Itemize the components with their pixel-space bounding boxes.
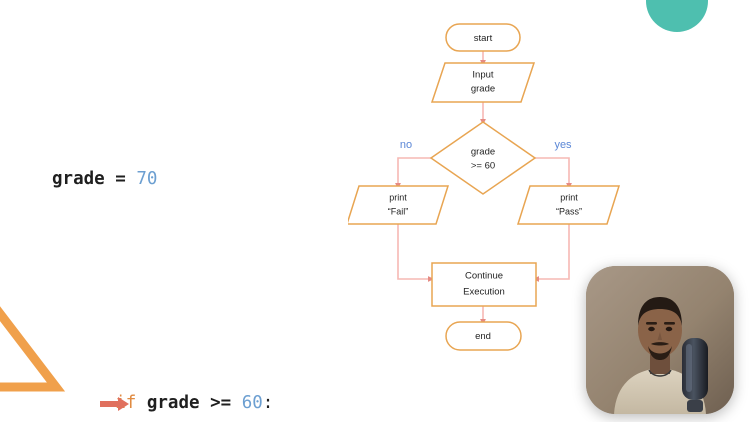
connector-decision-yes [535,158,569,186]
connector-decision-no [398,158,431,186]
start-label: start [474,33,493,44]
decision-label-line2: >= 60 [471,161,495,172]
slide-canvas: grade = 70 if grade >= 60: print("Pass")… [0,0,750,422]
flow-node-continue: Continue Execution [432,263,536,306]
code-block: grade = 70 if grade >= 60: print("Pass")… [52,88,337,422]
token-variable-grade: grade [147,393,200,413]
presenter-video-frame [586,266,734,414]
print-fail-label-line2: “Fail” [388,206,409,216]
microphone-stand [687,400,703,412]
token-gte-operator: >= [210,393,231,413]
token-space [105,169,116,189]
token-colon: : [263,393,274,413]
pointer-arrow-icon [16,368,46,384]
presenter-eyebrow-right [664,322,675,325]
decision-shape [431,122,535,194]
teal-circle-decoration [646,0,708,32]
presenter-webcam-overlay[interactable] [586,266,734,414]
token-variable-grade: grade [52,169,105,189]
flow-node-decision: grade >= 60 [431,122,535,194]
presenter-eye-right [666,327,673,331]
microphone-highlight [686,344,692,392]
token-number-70: 70 [136,169,157,189]
print-pass-label-line1: print [560,192,578,202]
code-line-blank [52,270,337,286]
token-space [126,169,137,189]
token-space [200,393,211,413]
print-pass-label-line2: “Pass” [556,206,582,216]
flow-node-input: Input grade [432,63,534,102]
print-fail-label-line1: print [389,192,407,202]
token-space [231,393,242,413]
microphone-body [682,338,708,400]
branch-label-no: no [400,139,412,151]
presenter-eyebrow-left [646,322,657,325]
token-number-60: 60 [242,393,263,413]
flow-node-start: start [446,24,520,51]
token-assign-operator: = [115,169,126,189]
input-label-line1: Input [472,70,493,81]
token-space [136,393,147,413]
code-line-1: grade = 70 [52,166,337,192]
branch-label-yes: yes [554,139,572,151]
flow-node-print-fail: print “Fail” [348,186,448,224]
flow-node-end: end [446,322,521,350]
connector-fail-to-continue [398,224,431,279]
continue-label-line2: Execution [463,287,505,298]
decision-label-line1: grade [471,147,495,158]
end-label: end [475,331,491,342]
code-line-if: if grade >= 60: [52,364,337,390]
presenter-eye-left [648,327,655,331]
flow-node-print-pass: print “Pass” [518,186,619,224]
connector-pass-to-continue [536,224,569,279]
continue-label-line1: Continue [465,271,503,282]
continue-shape [432,263,536,306]
input-label-line2: grade [471,84,495,95]
